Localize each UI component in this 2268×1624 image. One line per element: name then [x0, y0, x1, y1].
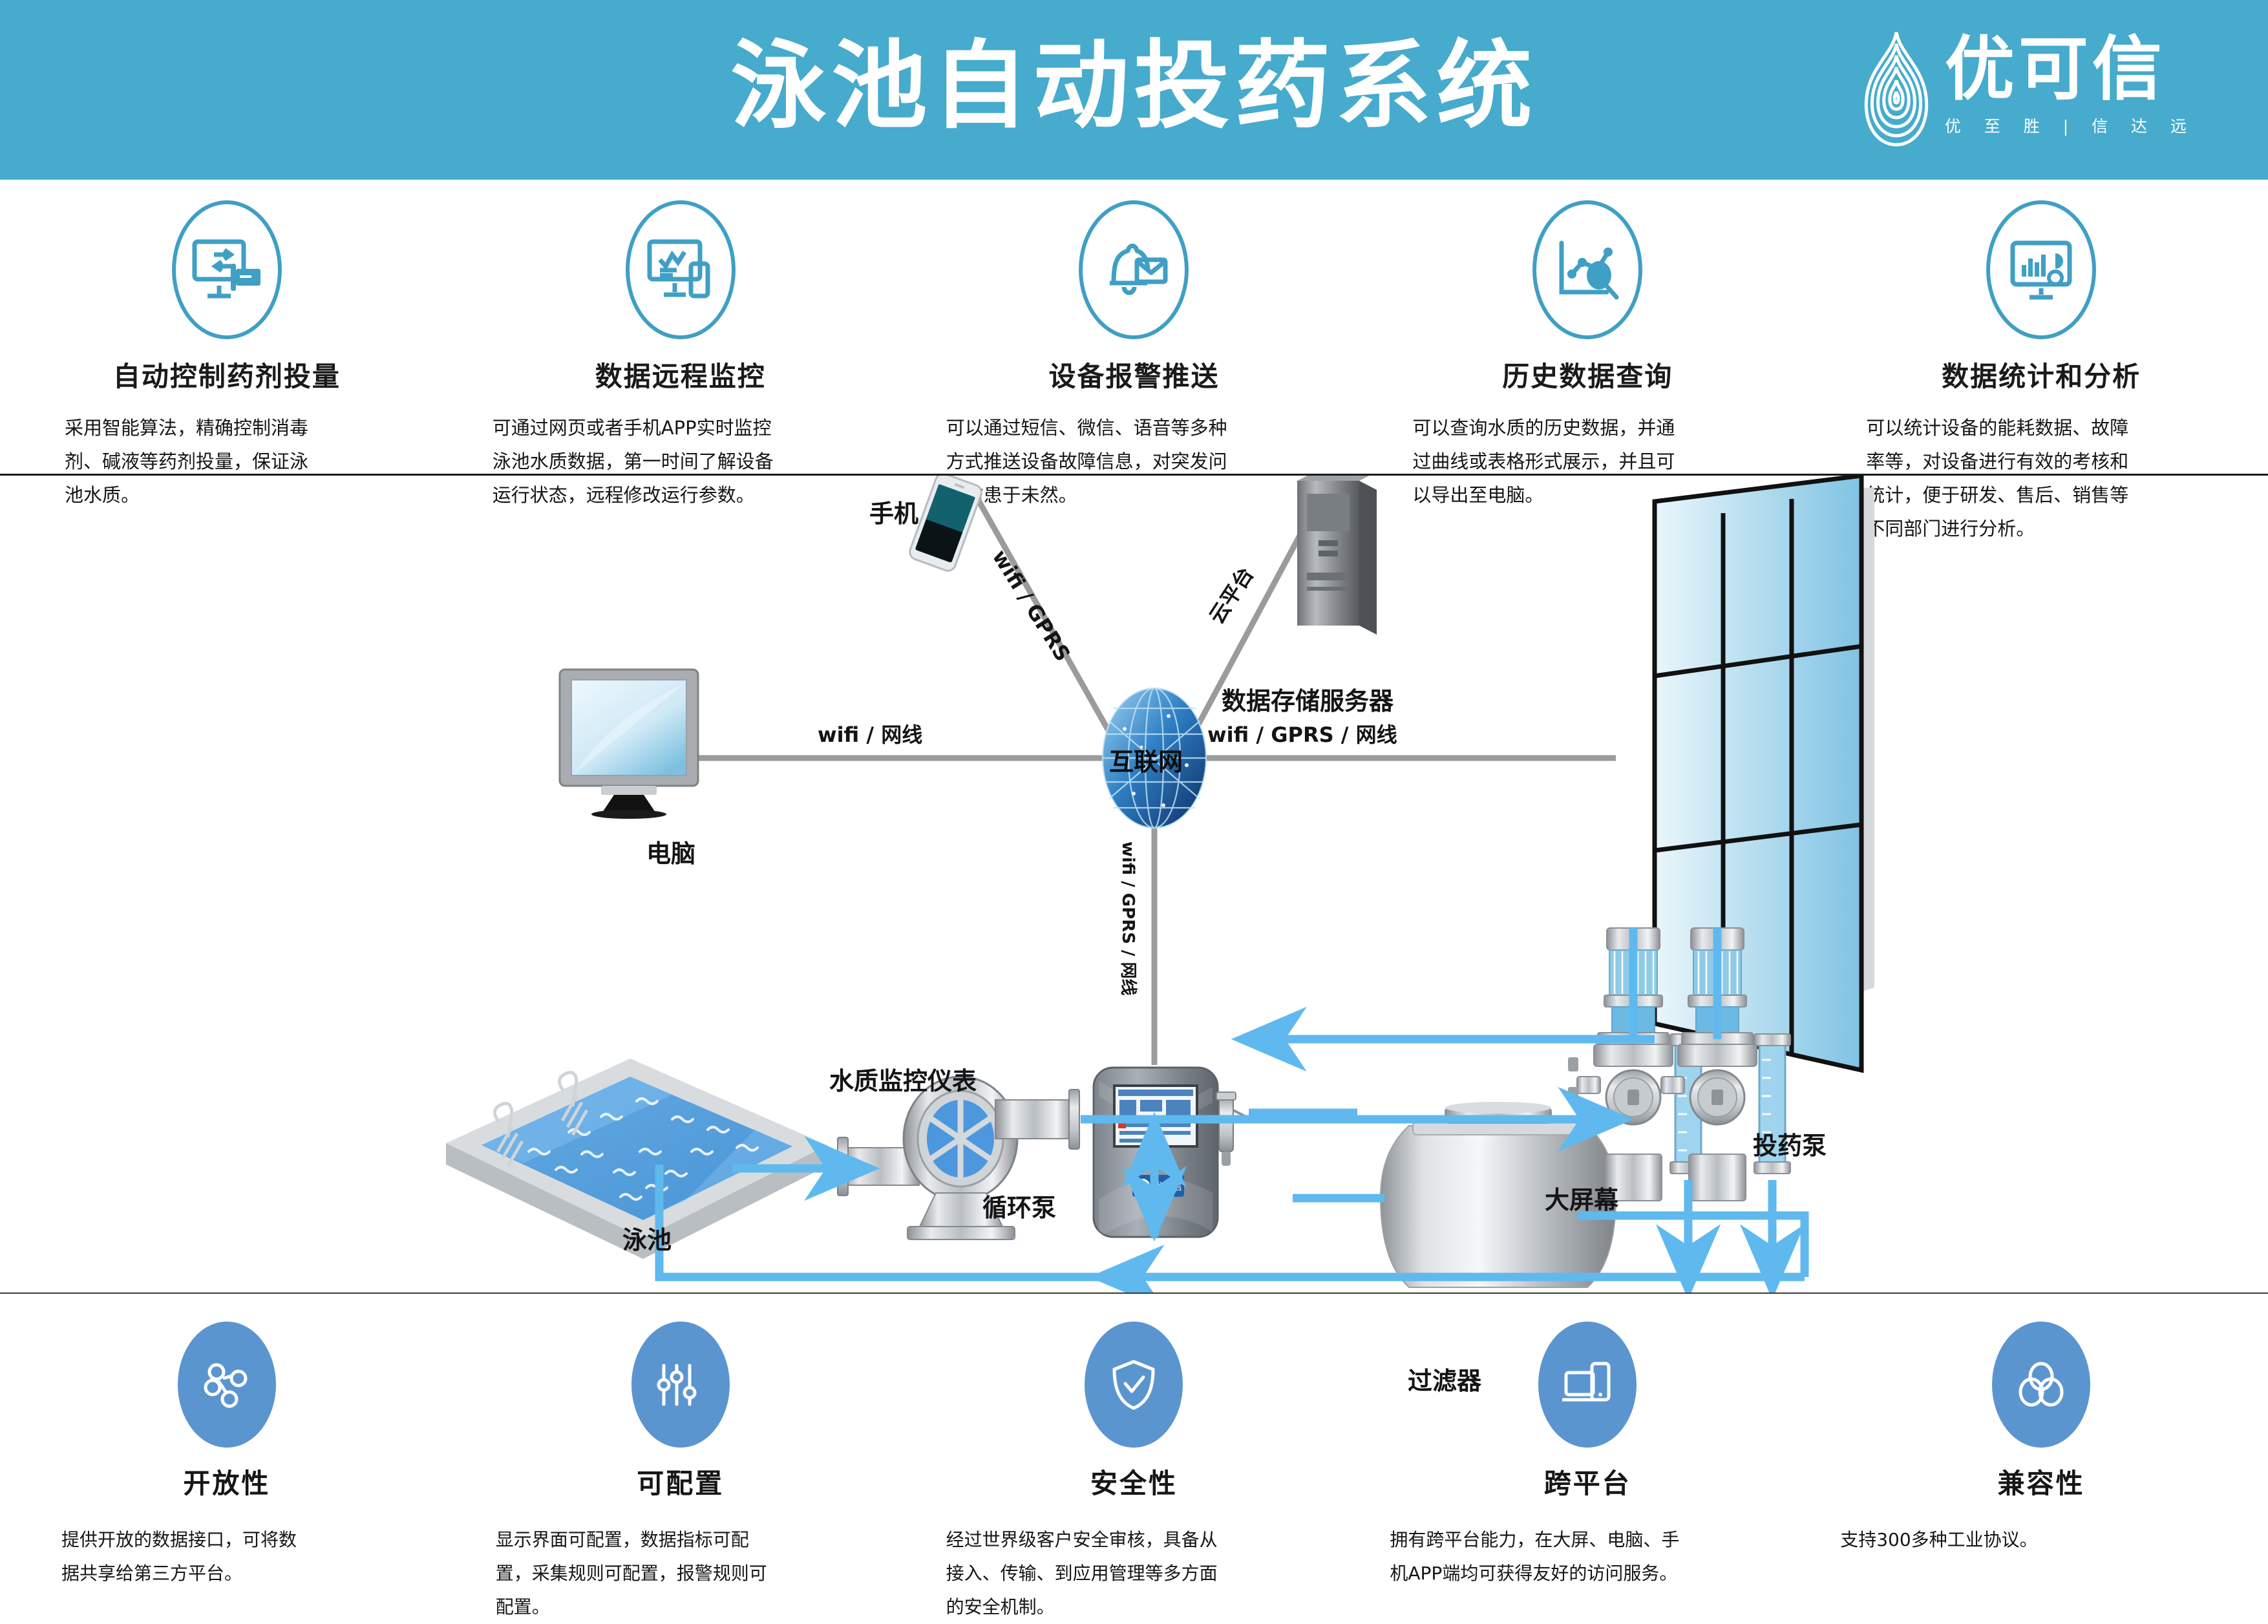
share-nodes-icon [178, 1322, 276, 1448]
benefit-card-cross-platform: 跨平台 拥有跨平台能力，在大屏、电脑、手机APP端均可获得友好的访问服务。 [1361, 1322, 1814, 1593]
chart-magnifier-icon [1532, 200, 1642, 339]
label-bigscreen: 大屏幕 [1545, 1180, 1618, 1216]
brand-name: 优可信 [1945, 34, 2196, 106]
feature-title: 自动控制药剂投量 [0, 355, 454, 394]
sliders-icon [631, 1322, 730, 1448]
bell-mail-icon [1079, 200, 1189, 339]
feature-card-remote-monitoring: 数据远程监控 可通过网页或者手机APP实时监控泳池水质数据，第一时间了解设备运行… [454, 194, 907, 465]
link-label-meter: wifi / GPRS / 网线 [1118, 841, 1141, 996]
feature-title: 数据统计和分析 [1814, 355, 2268, 394]
shield-check-icon [1085, 1322, 1183, 1448]
benefit-desc: 支持300多种工业协议。 [1840, 1523, 2118, 1557]
benefit-desc: 提供开放的数据接口，可将数据共享给第三方平台。 [61, 1523, 307, 1590]
computer-monitor [560, 670, 698, 819]
water-drop-fingerprint-icon [1858, 27, 1934, 150]
system-diagram: 优可信 [0, 476, 2268, 1292]
feature-card-history-query: 历史数据查询 可以查询水质的历史数据，并通过曲线或表格形式展示，并且可以导出至电… [1361, 194, 1814, 465]
bottom-feature-row: 开放性 提供开放的数据接口，可将数据共享给第三方平台。 可配置 显示界面可配置，… [0, 1322, 2268, 1593]
monitor-statistics-icon [1986, 200, 2096, 339]
feature-card-alarm-push: 设备报警推送 可以通过短信、微信、语音等多种方式推送设备故障信息，对突发问题防患… [907, 194, 1361, 465]
monitor-chart-phone-icon [626, 200, 736, 339]
benefit-card-openness: 开放性 提供开放的数据接口，可将数据共享给第三方平台。 [0, 1322, 454, 1593]
brand-slogan: 优 至 胜 | 信 达 远 [1945, 114, 2196, 137]
brand-logo: 优可信 优 至 胜 | 信 达 远 [1858, 27, 2196, 150]
benefit-title: 开放性 [0, 1462, 454, 1501]
benefit-title: 可配置 [454, 1462, 907, 1501]
feature-title: 历史数据查询 [1361, 355, 1814, 394]
label-pool: 泳池 [622, 1220, 672, 1256]
label-internet: 互联网 [1109, 742, 1183, 777]
phone-device [907, 476, 983, 573]
feature-card-auto-dosing: 自动控制药剂投量 采用智能算法，精确控制消毒剂、碱液等药剂投量，保证泳池水质。 [0, 194, 454, 465]
benefit-card-configurable: 可配置 显示界面可配置，数据指标可配置，采集规则可配置，报警规则可配置。 [454, 1322, 907, 1593]
benefit-title: 兼容性 [1814, 1462, 2268, 1501]
label-circulation-pump: 循环泵 [982, 1188, 1056, 1223]
section-divider-bottom [0, 1292, 2268, 1294]
label-computer: 电脑 [646, 834, 695, 869]
server-device [1297, 476, 1377, 635]
page-header: 泳池自动投药系统 优可信 优 至 胜 | 信 达 远 [0, 0, 2268, 180]
link-label-bigscreen: wifi / GPRS / 网线 [1207, 719, 1397, 748]
feature-title: 设备报警推送 [907, 355, 1361, 394]
feature-card-statistics: 数据统计和分析 可以统计设备的能耗数据、故障率等，对设备进行有效的考核和统计，便… [1814, 194, 2268, 465]
monitor-dosing-icon [172, 200, 282, 339]
label-dosing-pump: 投药泵 [1753, 1126, 1827, 1161]
benefit-title: 安全性 [907, 1462, 1361, 1501]
benefit-card-security: 安全性 经过世界级客户安全审核，具备从接入、传输、到应用管理等多方面的安全机制。 [907, 1322, 1361, 1593]
top-feature-row: 自动控制药剂投量 采用智能算法，精确控制消毒剂、碱液等药剂投量，保证泳池水质。 … [0, 194, 2268, 465]
bigscreen-wall [1655, 476, 1874, 1070]
benefit-title: 跨平台 [1361, 1462, 1814, 1501]
benefit-desc: 显示界面可配置，数据指标可配置，采集规则可配置，报警规则可配置。 [496, 1523, 767, 1624]
label-phone: 手机 [869, 494, 918, 529]
link-label-computer: wifi / 网线 [818, 719, 922, 748]
label-server: 数据存储服务器 [1222, 681, 1394, 717]
benefit-card-compatibility: 兼容性 支持300多种工业协议。 [1814, 1322, 2268, 1593]
venn-circles-icon [1992, 1322, 2090, 1448]
label-water-meter: 水质监控仪表 [829, 1061, 977, 1097]
benefit-desc: 经过世界级客户安全审核，具备从接入、传输、到应用管理等多方面的安全机制。 [946, 1523, 1224, 1624]
feature-title: 数据远程监控 [454, 355, 907, 394]
water-quality-meter: 优可信 [1094, 1068, 1249, 1238]
devices-icon [1538, 1322, 1637, 1448]
benefit-desc: 拥有跨平台能力，在大屏、电脑、手机APP端均可获得友好的访问服务。 [1390, 1523, 1680, 1590]
